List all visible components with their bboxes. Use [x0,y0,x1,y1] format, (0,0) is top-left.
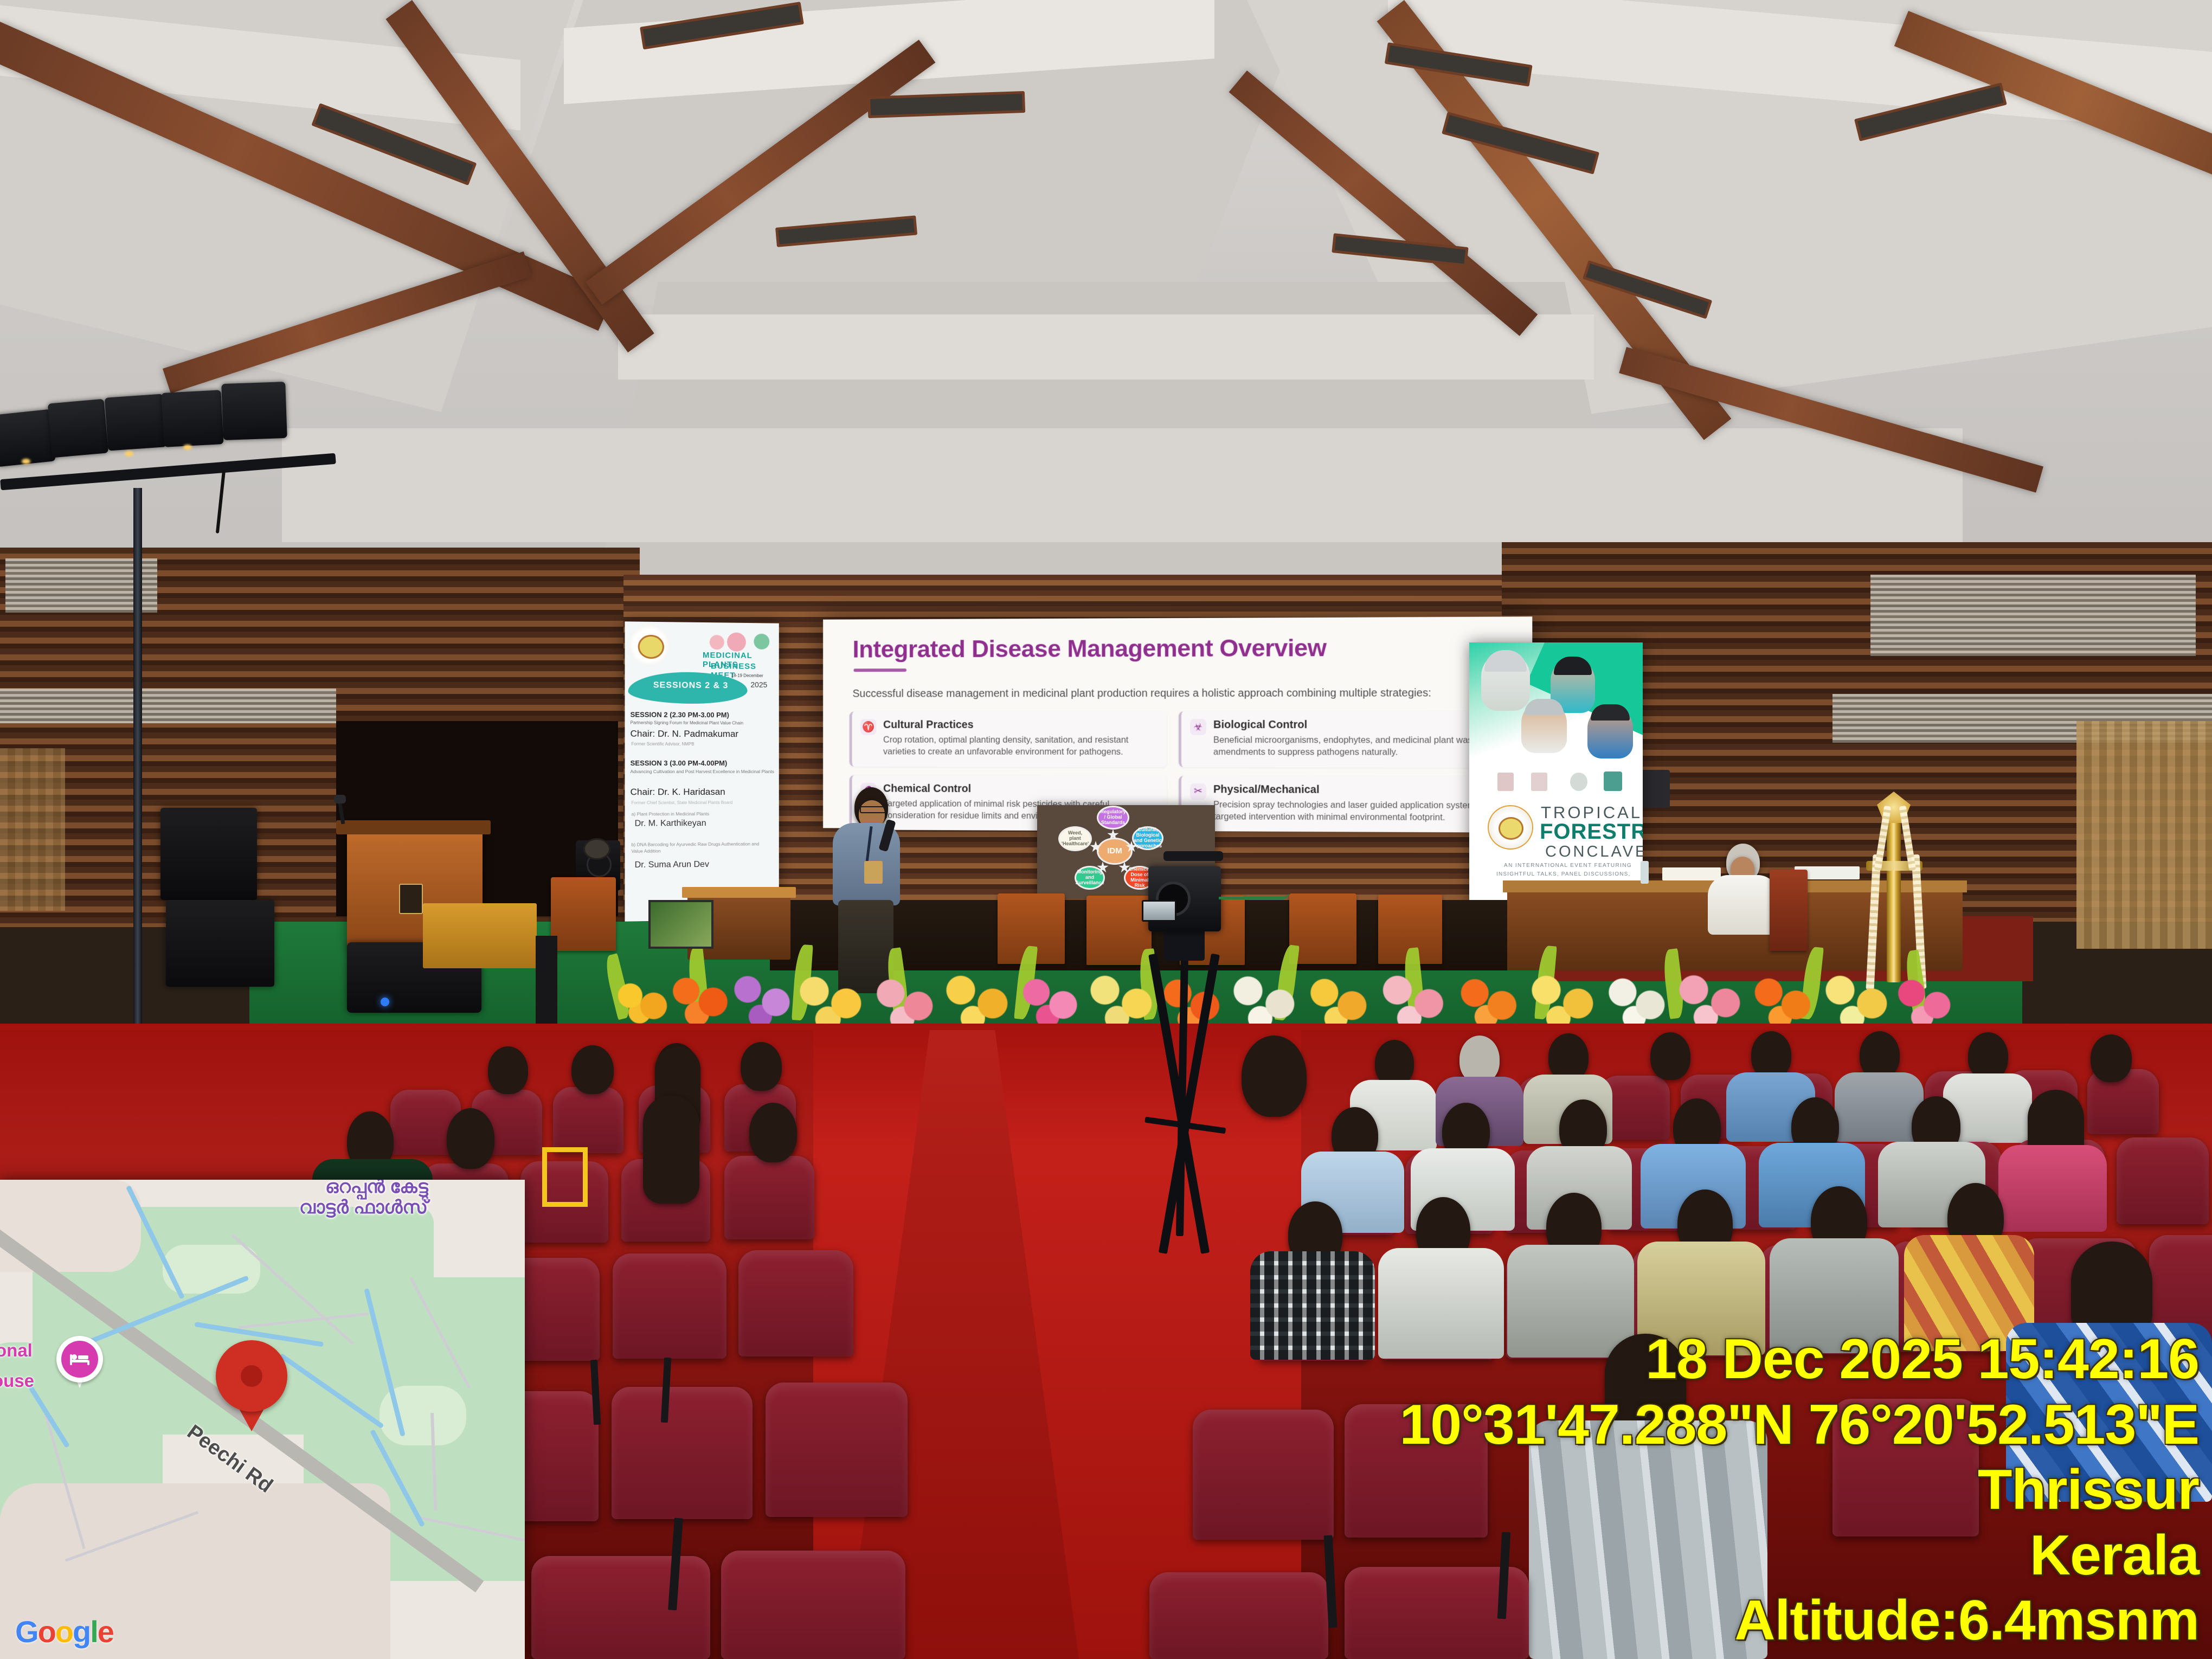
slide-card-physical: ✂ Physical/Mechanical Precision spray te… [1179,776,1504,833]
sessions-blob-label: SESSIONS 2 & 3 [653,680,728,691]
podium-top [336,820,491,834]
google-logo: Google [15,1614,113,1649]
idm-node-weed: Weed, plant 'Healthcare' [1060,828,1090,850]
left-banner-sessions: MEDICINAL PLANTS BUSINESS MEET 18-19 Dec… [625,621,779,921]
flower-cluster [867,972,940,1029]
window-curtain-right [2076,721,2212,949]
slide-card-biological: ☣ Biological Control Beneficial microorg… [1179,711,1504,768]
google-letter-o2: o [55,1615,73,1649]
camera-operator-head [1242,1036,1307,1117]
gps-stamp-overlay: 18 Dec 2025 15:42:16 10°31'47.288"N 76°2… [1399,1327,2199,1654]
audience-head [741,1042,782,1091]
sponsor-logo-1 [1497,773,1514,791]
slide-card-cultural: ♈ Cultural Practices Crop rotation, opti… [850,711,1167,767]
card-body: Precision spray technologies and laser g… [1213,799,1496,824]
talk-b-speaker: Dr. Suma Arun Dev [635,860,709,870]
presenter-badge [864,861,883,884]
portrait-1-hair [1484,650,1527,672]
national-geographic-badge [542,1147,588,1207]
camera-handle-icon [1163,851,1223,861]
right-banner-sub-2: INSIGHTFUL TALKS, PANEL DISCUSSIONS, [1496,871,1631,877]
portrait-3-hair [1525,699,1564,715]
audience-torso-saree [1998,1145,2107,1232]
right-banner-title-3: CONCLAVE [1545,843,1643,861]
stage-side-table-top [682,887,796,898]
audience-head [447,1108,494,1169]
flower-cluster [938,968,1014,1029]
kfri-logo-inner [638,635,664,659]
seedling-icon: ♈ [860,719,876,735]
stage-light-1 [0,409,56,467]
session3-chair: Chair: Dr. K. Haridasan [631,787,725,798]
audience-torso [1835,1072,1924,1142]
gps-coordinates: 10°31'47.288"N 76°20'52.513"E [1399,1392,2199,1458]
stage-light-2 [48,399,108,458]
stage-light-glow-3 [125,451,133,456]
stage-light-5 [221,382,287,440]
audience-seat [613,1253,726,1359]
audience-head [571,1045,614,1094]
slide-title: Integrated Disease Management Overview [853,634,1327,663]
card-body: Beneficial microorganisms, endophytes, a… [1213,734,1496,758]
map-label-malayalam-1: ഒറപ്പൻ കേട്ടു [325,1180,428,1198]
card-title: Physical/Mechanical [1213,783,1496,797]
sponsor-logo-3 [1570,773,1587,791]
google-letter-g: G [15,1615,38,1649]
session3-chair-sub: Former Chief Scientist, State Medicinal … [632,800,732,805]
map-label-malayalam-2: വാട്ടർ ഫാൾസ് [299,1197,428,1218]
presentation-slide: Integrated Disease Management Overview S… [823,616,1532,831]
map-location-pin[interactable] [216,1340,287,1431]
pin-dot [241,1365,262,1387]
pa-speaker-stack-bottom [166,900,274,987]
audience-seat [2117,1137,2209,1224]
gps-altitude: Altitude:6.4msnm [1399,1588,2199,1654]
stage-chair-1 [551,877,616,951]
talk-b-topic: b) DNA Barcoding for Ayurvedic Raw Drugs… [632,841,767,854]
audience-head [2091,1034,2132,1082]
flower-cluster [1225,969,1301,1029]
slide-title-rule [853,668,906,672]
flower-cluster [1890,973,1957,1027]
left-banner-year: 2025 [750,680,767,689]
scissors-icon: ✂ [1190,783,1206,800]
session3-heading: SESSION 3 (3.00 PM-4.00PM) [631,759,728,767]
idm-node-regulatory: Regulatory / Global Standards [1098,807,1128,828]
flower-cluster [726,968,797,1027]
audience-head [1548,1033,1589,1081]
light-rig-pole [133,488,142,1030]
audience-seat [1193,1410,1334,1540]
flower-cluster [1452,972,1523,1028]
ceiling-wall-band-mid [618,314,1594,380]
google-letter-o1: o [38,1615,55,1649]
sponsor-logo-4 [1604,771,1622,791]
flower-cluster [1671,968,1747,1028]
podium-microphone-head-icon [334,795,346,803]
bed-icon [61,1341,98,1378]
map-inset[interactable]: ഒറപ്പൻ കേട്ടു വാട്ടർ ഫാൾസ് onal ouse Pe [0,1180,525,1659]
audience-seat [721,1551,905,1659]
banner-plant-art [704,628,774,652]
audience-head-grey [1459,1036,1500,1083]
gps-city: Thrissur [1399,1457,2199,1523]
talk-a-topic: a) Plant Protection in Medicinal Plants [632,811,710,817]
map-poi-label-line1: onal [0,1340,33,1361]
bug-icon: ☣ [1190,719,1206,735]
audience-head [1968,1032,2008,1080]
stage-light-4 [161,390,223,447]
idm-node-monitoring: Monitoring and Surveillance [1076,867,1103,888]
gps-state: Kerala [1399,1523,2199,1589]
flower-cluster [792,969,867,1030]
left-banner-dates: 18-19 December [731,673,763,678]
stage-light-glow-4 [183,445,192,450]
right-banner-sub-1: AN INTERNATIONAL EVENT FEATURING [1504,863,1632,869]
card-body: Crop rotation, optimal planting density,… [883,734,1158,758]
stage-light-3 [105,394,167,451]
head-table-nameplate [1662,867,1721,880]
camera-viewfinder-screen [1142,900,1176,922]
card-title: Chemical Control [883,782,1158,795]
wall-louvre-right [1870,575,2196,656]
google-letter-l: l [90,1615,98,1649]
window-curtain-left [0,748,65,911]
sponsor-logo-2 [1531,773,1547,791]
flower-cluster [1817,968,1893,1029]
audience-seat [738,1250,853,1356]
flower-cluster [1746,970,1817,1028]
flower-cluster [613,977,671,1024]
head-table-water-bottle-icon-2 [1641,861,1649,884]
flower-cluster [1301,970,1374,1029]
chairperson-torso [1708,875,1778,935]
pa-speaker-stack-top [160,808,257,900]
session2-sub: Partnership Signing Forum for Medicinal … [631,720,775,725]
camera-cable [1219,892,1289,899]
kfri-seal-inner [1499,817,1523,840]
flower-cluster [1375,968,1450,1029]
card-title: Cultural Practices [883,719,1158,731]
flower-cluster [1014,970,1084,1028]
session3-sub: Advancing Cultivation and Post Harvest E… [631,769,776,775]
flower-cluster [1523,968,1599,1029]
podium-emblem-icon [399,884,423,914]
idm-node-center: IDM [1098,839,1131,863]
audience-head [1650,1032,1690,1080]
wall-louvre-left-2 [0,689,336,723]
audience-head [488,1046,528,1094]
ceiling-wall-band-lower [282,428,1963,542]
flower-cluster [665,970,732,1025]
audience-head [1751,1031,1791,1079]
idm-node-cultural: Cultural, Biological and Genetic Approac… [1134,828,1162,848]
audience-head [749,1103,797,1162]
audience-seat [612,1387,753,1519]
session2-chair-sub: Former Scientific Advisor, NMPB [632,742,695,747]
google-letter-g2: g [73,1615,90,1649]
audience-seat [766,1382,908,1517]
photo-canvas: MEDICINAL PLANTS BUSINESS MEET 18-19 Dec… [0,0,2212,1659]
flower-cluster [1599,970,1672,1028]
portrait-4-hair [1591,704,1630,721]
google-letter-e: e [98,1615,113,1649]
card-title: Biological Control [1213,719,1496,731]
audience-seat [724,1156,814,1239]
audience-seat [553,1087,623,1153]
audience-seat [531,1556,710,1659]
pa-crate-yellow [423,903,537,968]
session2-chair: Chair: Dr. N. Padmakumar [631,729,738,740]
slide-intro: Successful disease management in medicin… [853,687,1431,700]
right-banner-title-2: FORESTRY [1540,820,1643,844]
chairperson-chair [1770,870,1808,951]
audience-seat [1149,1572,1328,1659]
map-poi-guesthouse[interactable] [56,1336,103,1390]
session2-heading: SESSION 2 (2.30 PM-3.00 PM) [631,710,729,719]
gps-datetime: 18 Dec 2025 15:42:16 [1399,1327,2199,1392]
talk-a-speaker: Dr. M. Karthikeyan [635,819,706,829]
map-poi-label-line2: ouse [0,1371,34,1391]
stage-light-glow-1 [22,459,30,464]
pa-case-black [536,936,557,1028]
side-display-screen [648,900,713,949]
audience-torso-checked [1250,1251,1375,1360]
audience-head [1860,1031,1900,1079]
pa-monitor-led-icon [381,998,389,1006]
audience-head-long-hair [643,1095,699,1204]
tripod-head [1163,927,1205,961]
flower-cluster [1082,968,1158,1029]
presenter-glasses-icon [860,806,886,813]
stage-monitor-lens-icon [583,838,610,860]
